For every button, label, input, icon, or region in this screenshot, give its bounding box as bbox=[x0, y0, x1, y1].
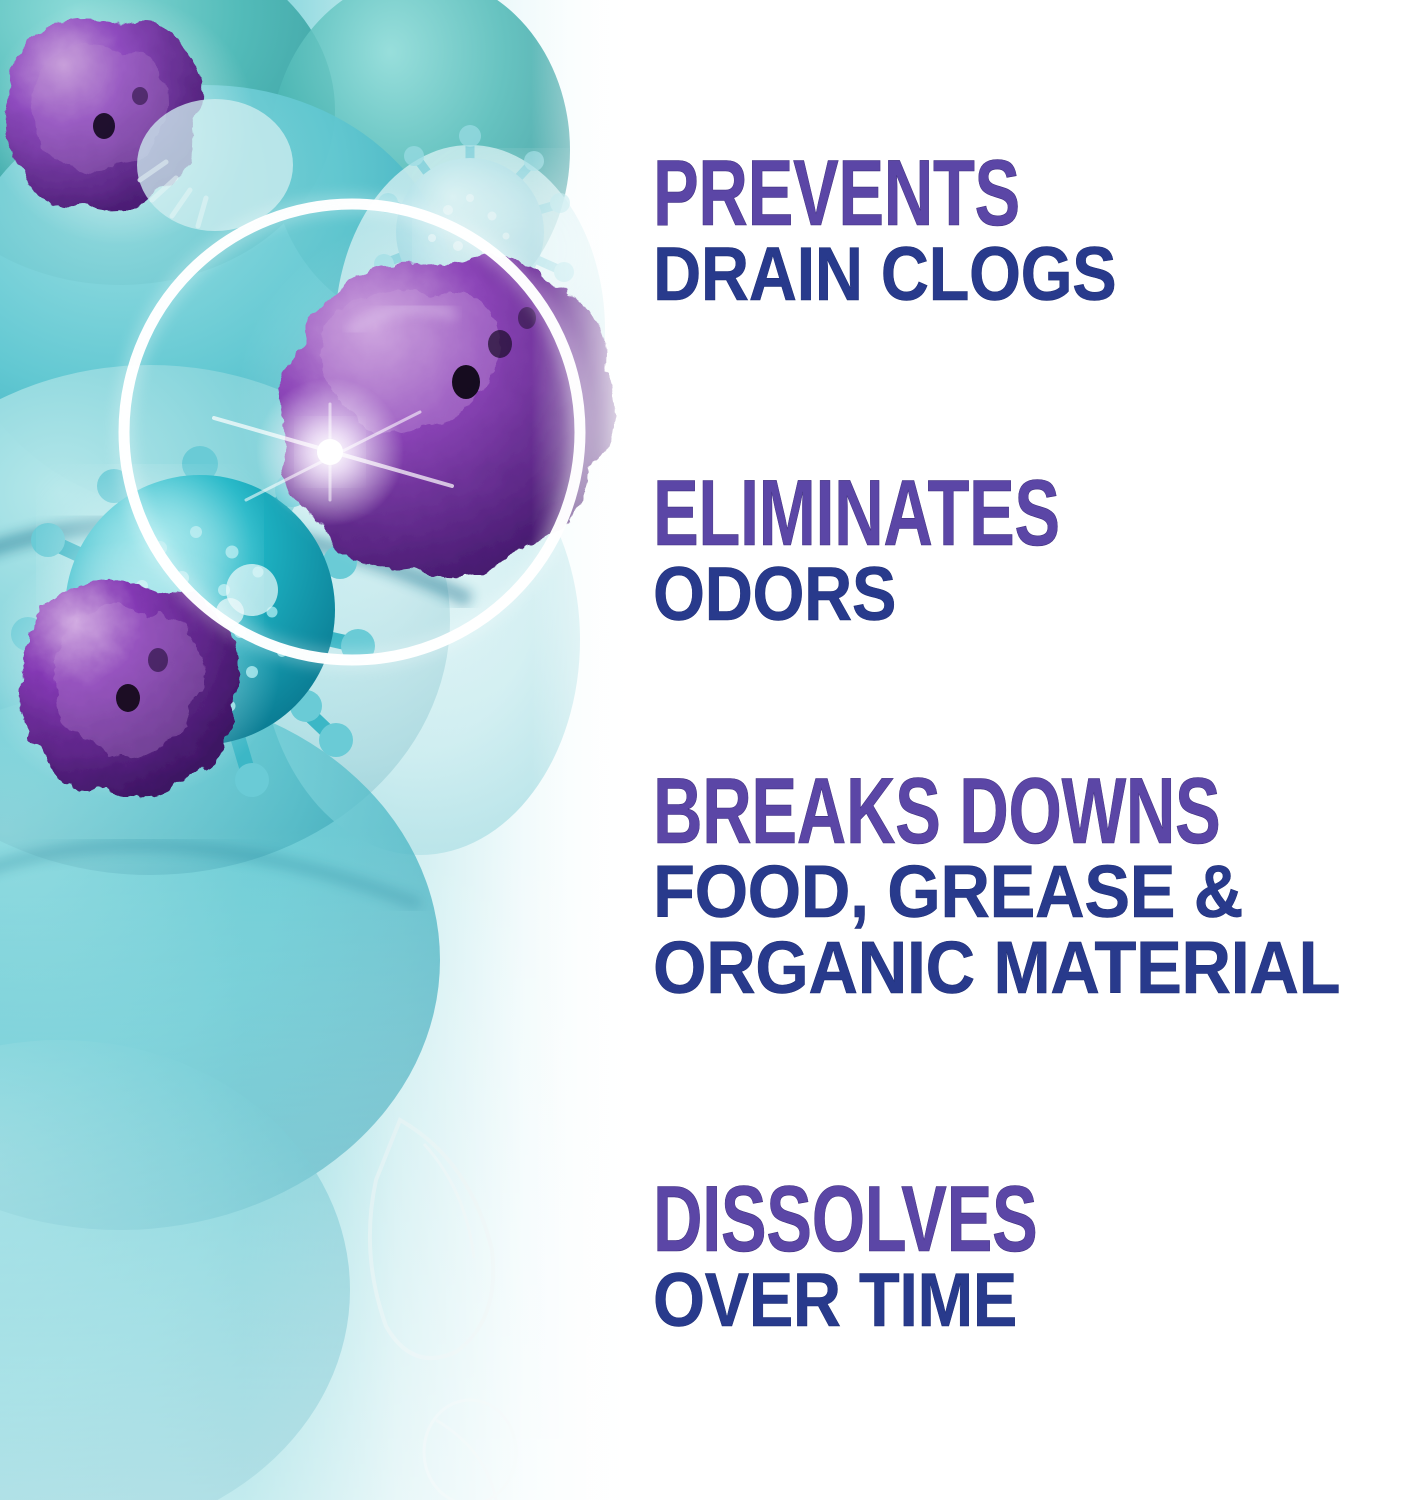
benefit-headline: PREVENTS bbox=[653, 150, 1208, 236]
infographic-canvas: PREVENTS DRAIN CLOGS ELIMINATES ODORS BR… bbox=[0, 0, 1411, 1500]
benefit-headline: DISSOLVES bbox=[653, 1176, 1208, 1262]
benefit-headline: BREAKS DOWNS bbox=[653, 768, 1208, 854]
benefit-prevents-drain-clogs: PREVENTS DRAIN CLOGS bbox=[653, 150, 1411, 314]
benefit-subline: FOOD, GREASE & bbox=[653, 854, 1360, 929]
benefit-headline: ELIMINATES bbox=[653, 470, 1208, 556]
benefit-dissolves-over-time: DISSOLVES OVER TIME bbox=[653, 1176, 1411, 1340]
microbe-artwork bbox=[0, 0, 640, 1500]
benefit-breaks-downs-organic-material: BREAKS DOWNS FOOD, GREASE & ORGANIC MATE… bbox=[653, 768, 1411, 1005]
benefit-subline: ODORS bbox=[653, 556, 1322, 634]
benefit-eliminates-odors: ELIMINATES ODORS bbox=[653, 470, 1411, 634]
benefit-subline: OVER TIME bbox=[653, 1262, 1322, 1340]
benefit-list: PREVENTS DRAIN CLOGS ELIMINATES ODORS BR… bbox=[653, 0, 1411, 1500]
benefit-subline: DRAIN CLOGS bbox=[653, 236, 1322, 314]
benefit-subline: ORGANIC MATERIAL bbox=[653, 930, 1360, 1005]
